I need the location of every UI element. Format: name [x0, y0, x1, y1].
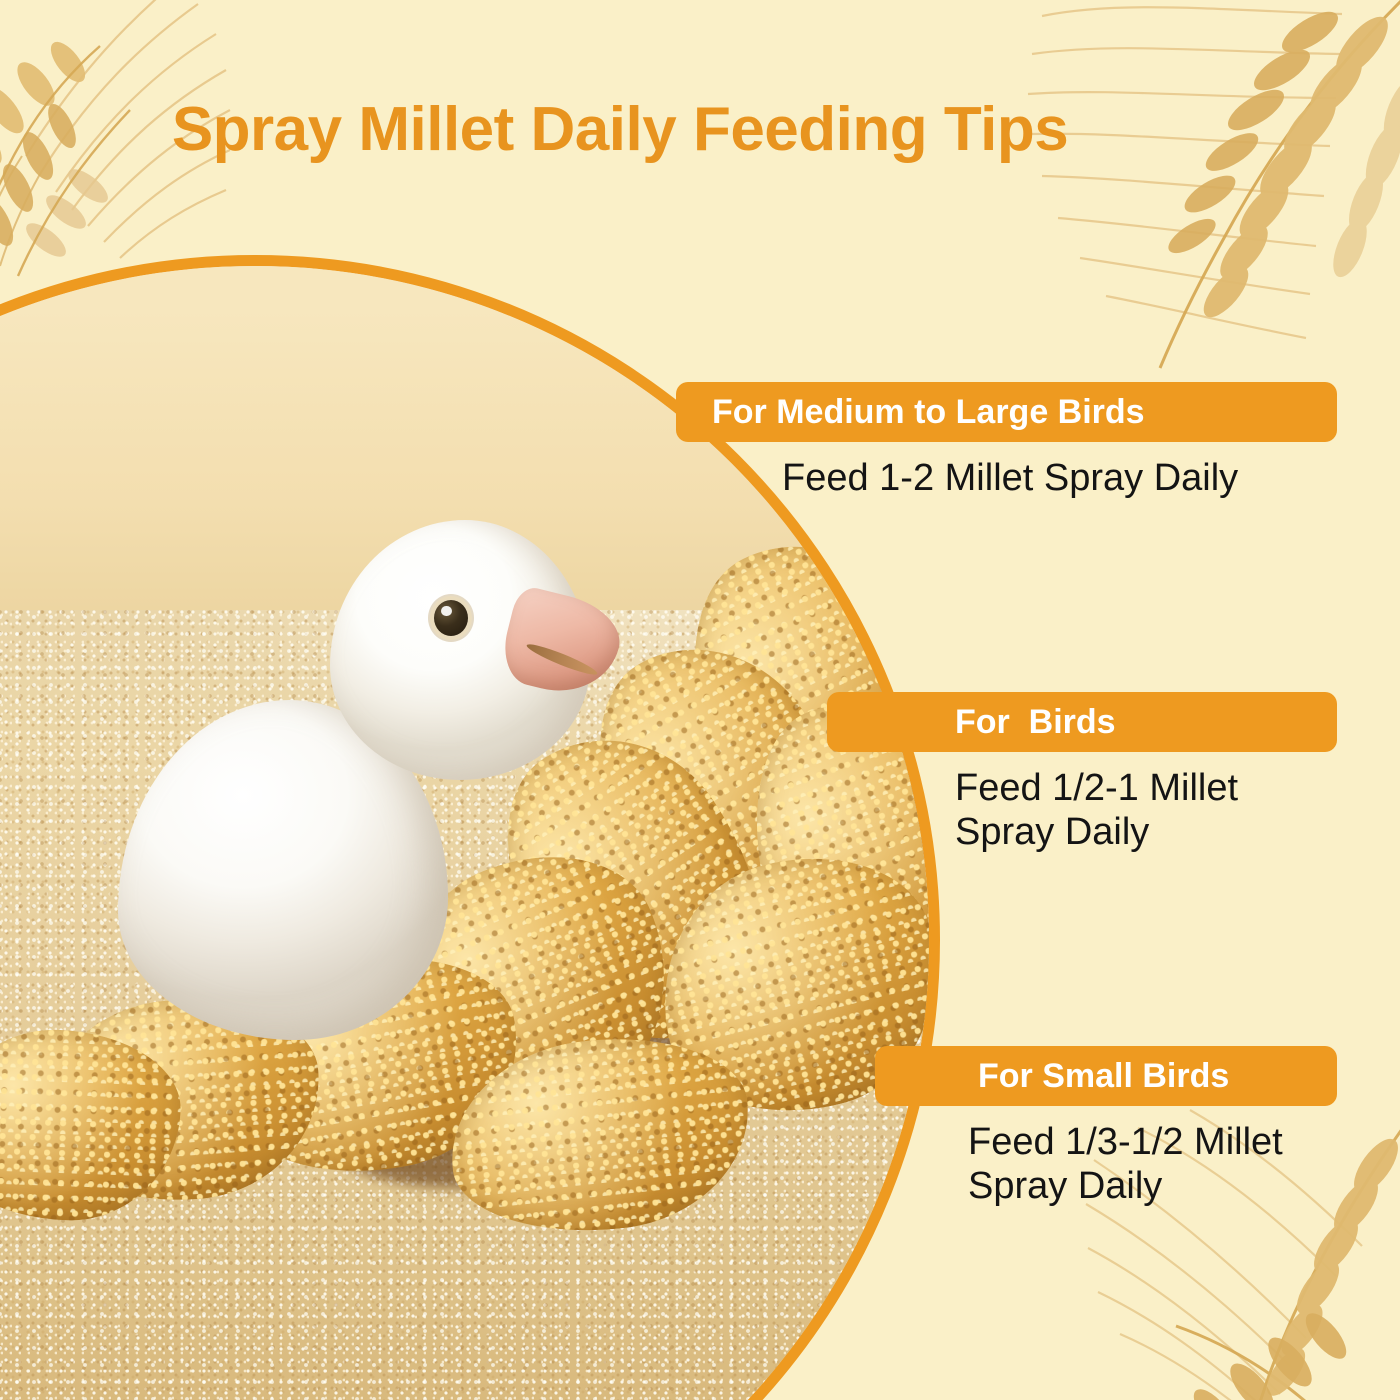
feeding-tip-heading: For Birds	[955, 705, 1116, 739]
page-title: Spray Millet Daily Feeding Tips	[0, 96, 1240, 164]
feeding-tip-heading-bar[interactable]: For Birds	[827, 692, 1337, 752]
feeding-tip-description: Feed 1-2 Millet Spray Daily	[782, 456, 1342, 500]
wheat-top-right-icon	[1010, 0, 1400, 370]
feeding-tip-heading: For Small Birds	[978, 1059, 1229, 1093]
feeding-tip-heading: For Medium to Large Birds	[712, 395, 1145, 429]
feeding-tip-heading-bar[interactable]: For Medium to Large Birds	[676, 382, 1337, 442]
infographic-root: Spray Millet Daily Feeding Tips For Medi…	[0, 0, 1400, 1400]
feeding-tip-description: Feed 1/3-1/2 Millet Spray Daily	[968, 1120, 1378, 1209]
feeding-tip-heading-bar[interactable]: For Small Birds	[875, 1046, 1337, 1106]
bird-eye	[434, 600, 468, 636]
page-title-wrap: Spray Millet Daily Feeding Tips	[0, 96, 1240, 164]
feeding-tip-description: Feed 1/2-1 Millet Spray Daily	[955, 766, 1375, 855]
